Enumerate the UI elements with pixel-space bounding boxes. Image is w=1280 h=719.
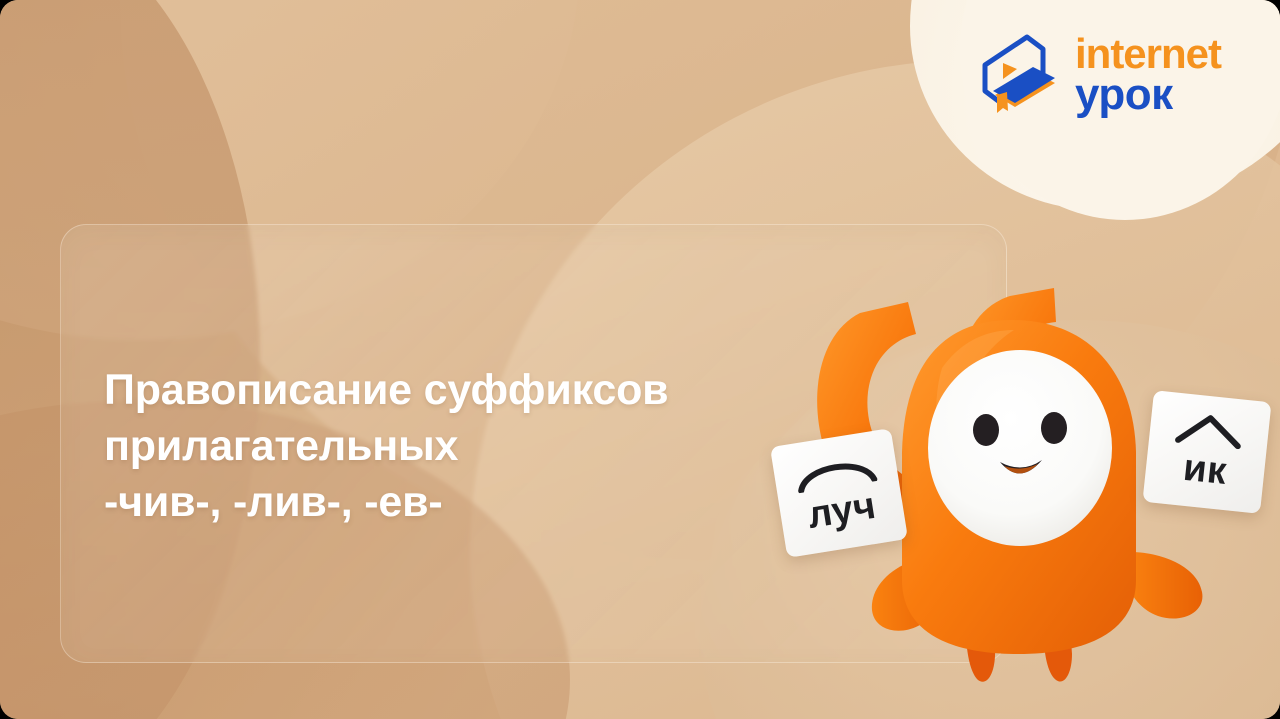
word-card-ik[interactable]: ик — [1142, 390, 1271, 514]
word-card-ik-inner: ик — [1142, 390, 1271, 514]
brand-logo[interactable]: internet урок — [975, 24, 1265, 126]
word-card-luch-inner: луч — [770, 428, 908, 558]
word-card-luch[interactable]: луч — [770, 428, 908, 558]
laptop-book-play-logo-icon — [975, 29, 1061, 121]
brand-name-urok: урок — [1075, 74, 1221, 116]
word-card-ik-text: ик — [1144, 443, 1266, 498]
brand-name-internet: internet — [1075, 34, 1221, 74]
page-title-line-1: Правописание суффиксов — [104, 362, 804, 418]
brand-logo-text: internet урок — [1075, 34, 1221, 116]
page-title-line-2: прилагательных — [104, 418, 804, 474]
lesson-title-slide: Правописание суффиксов прилагательных -ч… — [0, 0, 1280, 719]
page-title-line-3: -чив-, -лив-, -ев- — [104, 474, 804, 530]
page-title: Правописание суффиксов прилагательных -ч… — [104, 362, 804, 530]
